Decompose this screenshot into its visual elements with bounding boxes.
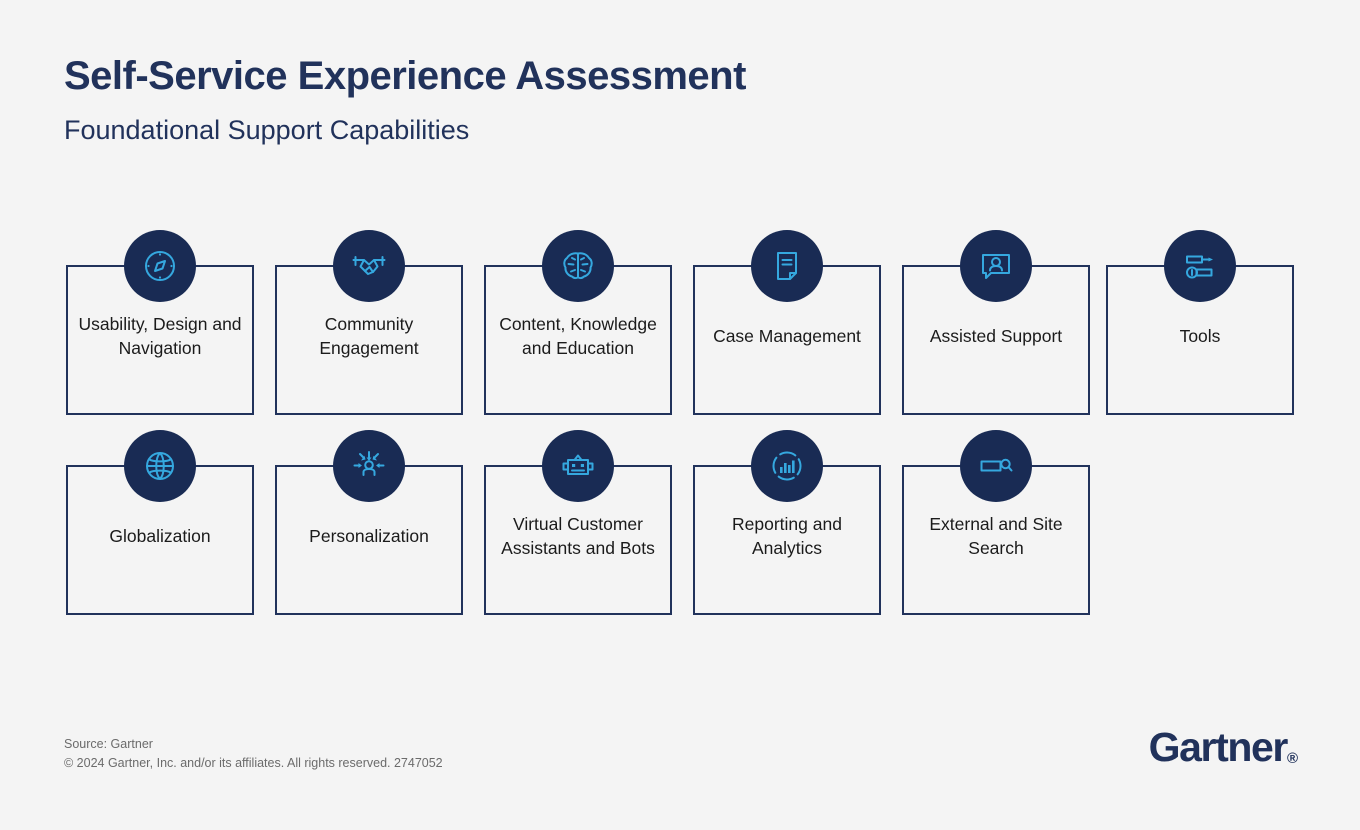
registered-mark: ® xyxy=(1287,750,1298,767)
capability-card-tools[interactable]: Tools xyxy=(1106,265,1294,415)
capability-label: Reporting and Analytics xyxy=(705,513,869,561)
header: Self-Service Experience Assessment Found… xyxy=(64,54,746,146)
capability-row-1: Usability, Design and Navigation xyxy=(66,265,1294,415)
page-subtitle: Foundational Support Capabilities xyxy=(64,115,746,146)
search-box-icon xyxy=(960,430,1032,502)
document-icon xyxy=(751,230,823,302)
capability-card-globalization[interactable]: Globalization xyxy=(66,465,254,615)
capability-label: External and Site Search xyxy=(914,513,1078,561)
capability-label: Content, Knowledge and Education xyxy=(496,313,660,361)
capability-card-case-management[interactable]: Case Management xyxy=(693,265,881,415)
brain-icon xyxy=(542,230,614,302)
capability-label: Personalization xyxy=(309,525,429,549)
footer: Source: Gartner © 2024 Gartner, Inc. and… xyxy=(64,735,443,773)
capability-card-reporting[interactable]: Reporting and Analytics xyxy=(693,465,881,615)
handshake-icon xyxy=(333,230,405,302)
page-title: Self-Service Experience Assessment xyxy=(64,54,746,98)
capability-label: Tools xyxy=(1180,325,1221,349)
robot-icon xyxy=(542,430,614,502)
tools-icon xyxy=(1164,230,1236,302)
capability-card-usability[interactable]: Usability, Design and Navigation xyxy=(66,265,254,415)
capability-label: Globalization xyxy=(109,525,210,549)
capability-label: Usability, Design and Navigation xyxy=(78,313,242,361)
capability-label: Virtual Customer Assistants and Bots xyxy=(496,513,660,561)
capability-card-personalization[interactable]: Personalization xyxy=(275,465,463,615)
capability-card-virtual-assistants[interactable]: Virtual Customer Assistants and Bots xyxy=(484,465,672,615)
capability-card-community[interactable]: Community Engagement xyxy=(275,265,463,415)
analytics-chart-icon xyxy=(751,430,823,502)
footer-copyright: © 2024 Gartner, Inc. and/or its affiliat… xyxy=(64,754,443,773)
capability-row-2: Globalization Personalization xyxy=(66,465,1294,615)
globe-icon xyxy=(124,430,196,502)
capability-card-assisted-support[interactable]: Assisted Support xyxy=(902,265,1090,415)
logo-text: Gartner xyxy=(1149,724,1287,770)
capability-label: Case Management xyxy=(713,325,861,349)
footer-source: Source: Gartner xyxy=(64,735,443,754)
capability-grid: Usability, Design and Navigation xyxy=(66,265,1294,615)
capability-label: Community Engagement xyxy=(287,313,451,361)
capability-label: Assisted Support xyxy=(930,325,1062,349)
infographic-page: Self-Service Experience Assessment Found… xyxy=(0,0,1360,830)
compass-icon xyxy=(124,230,196,302)
chat-person-icon xyxy=(960,230,1032,302)
capability-card-search[interactable]: External and Site Search xyxy=(902,465,1090,615)
gartner-logo: Gartner® xyxy=(1149,724,1298,771)
person-target-icon xyxy=(333,430,405,502)
capability-card-content[interactable]: Content, Knowledge and Education xyxy=(484,265,672,415)
